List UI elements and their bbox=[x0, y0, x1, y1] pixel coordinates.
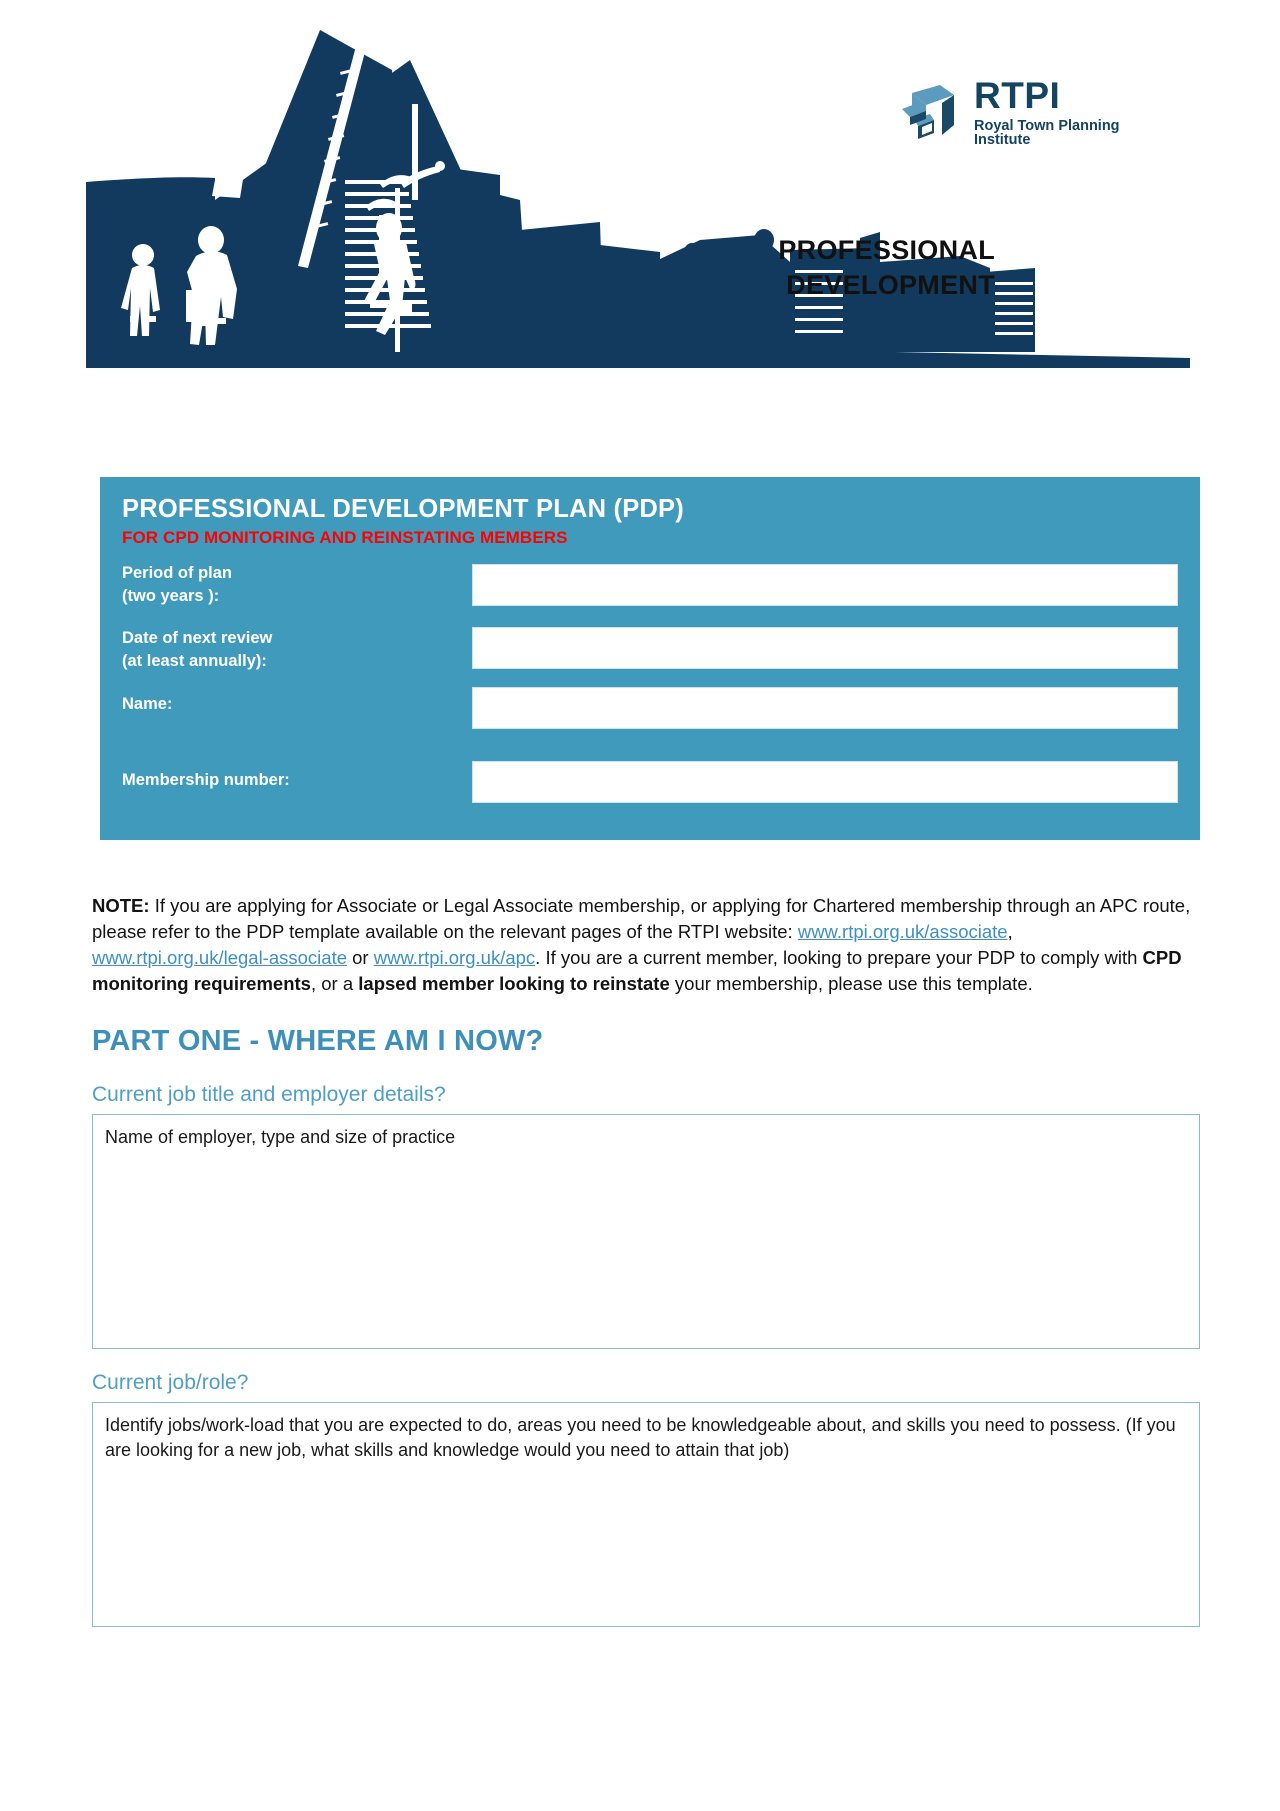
cityscape-illustration bbox=[0, 0, 1280, 380]
employer-details-textarea[interactable] bbox=[92, 1114, 1200, 1349]
banner-title: PROFESSIONAL DEVELOPMENT bbox=[495, 233, 995, 302]
note-text-4: your membership, please use this templat… bbox=[670, 973, 1033, 994]
label-line-1: Membership number: bbox=[122, 769, 472, 792]
field-row: Period of plan (two years ): bbox=[122, 560, 1178, 609]
name-input[interactable] bbox=[472, 687, 1178, 729]
field-row: Name: bbox=[122, 691, 1178, 729]
logo-acronym: RTPI bbox=[974, 77, 1176, 114]
period-of-plan-input[interactable] bbox=[472, 564, 1178, 606]
form-title: PROFESSIONAL DEVELOPMENT PLAN (PDP) bbox=[122, 495, 1178, 523]
form-subtitle: FOR CPD MONITORING AND REINSTATING MEMBE… bbox=[122, 529, 1178, 548]
part-one-heading: PART ONE - WHERE AM I NOW? bbox=[92, 1025, 543, 1058]
logo-full-name: Royal Town Planning Institute bbox=[974, 119, 1176, 148]
rtpi-logo: RTPI Royal Town Planning Institute bbox=[886, 72, 1186, 152]
label-line-1: Period of plan bbox=[122, 562, 472, 585]
rtpi-cube-icon bbox=[896, 81, 962, 143]
link-apc[interactable]: www.rtpi.org.uk/apc bbox=[374, 947, 535, 968]
note-sep-1: , bbox=[1008, 921, 1013, 942]
name-label: Name: bbox=[122, 691, 472, 716]
banner-title-line1: PROFESSIONAL bbox=[495, 233, 995, 268]
label-line-1: Date of next review bbox=[122, 627, 472, 650]
header-banner: RTPI Royal Town Planning Institute PROFE… bbox=[0, 0, 1280, 380]
label-line-1: Name: bbox=[122, 693, 472, 716]
membership-number-input[interactable] bbox=[472, 761, 1178, 803]
membership-number-label: Membership number: bbox=[122, 767, 472, 792]
pdp-form-panel: PROFESSIONAL DEVELOPMENT PLAN (PDP) FOR … bbox=[100, 477, 1200, 840]
period-of-plan-label: Period of plan (two years ): bbox=[122, 560, 472, 609]
section-current-job-title-employer: Current job title and employer details? bbox=[92, 1082, 1200, 1349]
link-legal-associate[interactable]: www.rtpi.org.uk/legal-associate bbox=[92, 947, 347, 968]
section-label-employer: Current job title and employer details? bbox=[92, 1082, 1200, 1107]
note-text-1: If you are applying for Associate or Leg… bbox=[92, 895, 1190, 942]
link-associate[interactable]: www.rtpi.org.uk/associate bbox=[798, 921, 1008, 942]
note-sep-2: or bbox=[347, 947, 374, 968]
label-line-2: (at least annually): bbox=[122, 650, 472, 673]
note-text-3: , or a bbox=[311, 973, 358, 994]
date-of-next-review-input[interactable] bbox=[472, 627, 1178, 669]
section-label-role: Current job/role? bbox=[92, 1370, 1200, 1395]
note-bold-2: lapsed member looking to reinstate bbox=[358, 973, 670, 994]
banner-title-line2: DEVELOPMENT bbox=[495, 268, 995, 303]
date-of-next-review-label: Date of next review (at least annually): bbox=[122, 625, 472, 674]
field-row: Membership number: bbox=[122, 767, 1178, 803]
section-current-job-role: Current job/role? bbox=[92, 1370, 1200, 1627]
field-row: Date of next review (at least annually): bbox=[122, 625, 1178, 674]
note-text-2: . If you are a current member, looking t… bbox=[535, 947, 1142, 968]
label-line-2: (two years ): bbox=[122, 585, 472, 608]
note-label: NOTE: bbox=[92, 895, 150, 916]
note-paragraph: NOTE: If you are applying for Associate … bbox=[92, 893, 1192, 998]
job-role-textarea[interactable] bbox=[92, 1402, 1200, 1627]
